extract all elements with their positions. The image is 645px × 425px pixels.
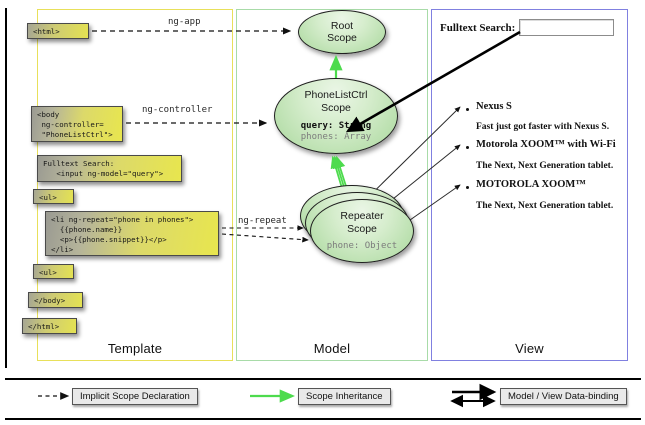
legend-implicit-scope-declaration: Implicit Scope Declaration xyxy=(72,388,198,405)
repeater-scope-prop-phone: phone: Object xyxy=(327,241,397,252)
legend-model-view-data-binding: Model / View Data-binding xyxy=(500,388,627,405)
repeater-scope-title-line1: Repeater xyxy=(340,210,383,223)
repeater-scope-title-line2: Scope xyxy=(347,223,377,236)
diagram-canvas: Template Model View <html> <body ng-cont… xyxy=(0,0,645,425)
repeater-scope-ellipse: Repeater Scope phone: Object xyxy=(310,199,414,263)
legend-scope-inheritance: Scope Inheritance xyxy=(298,388,391,405)
legend-arrow-double xyxy=(452,392,494,401)
